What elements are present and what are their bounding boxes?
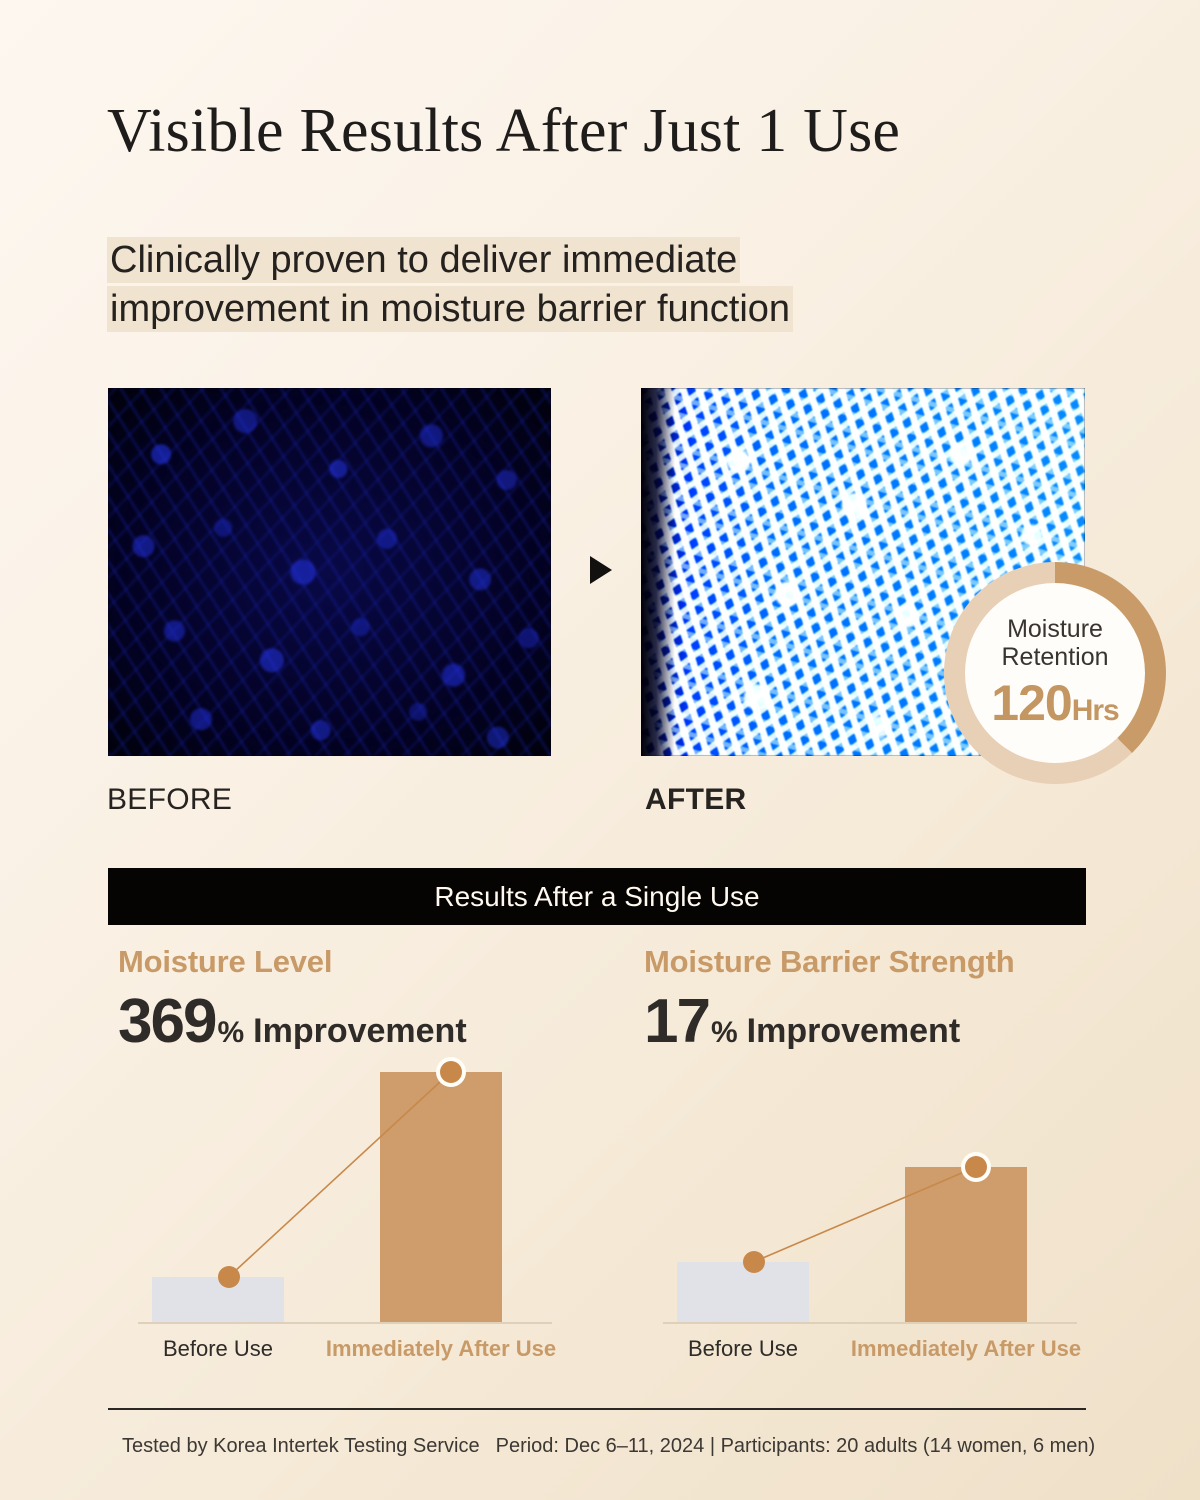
stat-word: Improvement <box>747 1012 961 1051</box>
stat-title: Moisture Level <box>118 944 467 980</box>
subtitle-line-2: improvement in moisture barrier function <box>107 286 793 332</box>
chart-moisture-level: Before Use Immediately After Use <box>130 1080 560 1360</box>
stat-number: 17 <box>644 986 709 1057</box>
trend-connector-line <box>655 1080 1085 1360</box>
footer-note: Tested by Korea Intertek Testing Service… <box>122 1435 1095 1458</box>
stat-barrier-strength: Moisture Barrier Strength 17 % Improveme… <box>644 944 1015 1057</box>
after-label: AFTER <box>645 783 747 817</box>
after-image-edge-shadow <box>641 388 675 756</box>
stat-value-row: 17 % Improvement <box>644 986 1015 1057</box>
results-section-header: Results After a Single Use <box>108 868 1086 925</box>
stat-value-row: 369 % Improvement <box>118 986 467 1057</box>
badge-inner: Moisture Retention 120Hrs <box>965 583 1145 763</box>
footer-divider <box>108 1408 1086 1410</box>
chart-barrier-strength: Before Use Immediately After Use <box>655 1080 1085 1360</box>
page-subtitle: Clinically proven to deliver immediate i… <box>107 236 1067 333</box>
badge-value: 120Hrs <box>991 675 1118 731</box>
before-skin-image <box>108 388 551 756</box>
page-title: Visible Results After Just 1 Use <box>107 96 900 167</box>
moisture-retention-badge: Moisture Retention 120Hrs <box>944 562 1166 784</box>
badge-line-2: Retention <box>1001 643 1108 671</box>
stat-number: 369 <box>118 986 215 1057</box>
trend-connector-line <box>130 1080 560 1360</box>
skin-texture-before <box>108 388 551 756</box>
axis-label-after: Immediately After Use <box>326 1336 556 1362</box>
data-point-after <box>440 1061 462 1083</box>
data-point-before <box>218 1266 240 1288</box>
stat-title: Moisture Barrier Strength <box>644 944 1015 980</box>
footer-period-participants: Period: Dec 6–11, 2024 | Participants: 2… <box>496 1435 1096 1457</box>
stat-percent-sign: % <box>711 1016 738 1050</box>
data-point-before <box>743 1251 765 1273</box>
badge-number: 120 <box>991 675 1071 731</box>
stat-percent-sign: % <box>217 1016 244 1050</box>
axis-label-before: Before Use <box>688 1336 798 1362</box>
data-point-after <box>965 1156 987 1178</box>
axis-label-after: Immediately After Use <box>851 1336 1081 1362</box>
footer-tested-by: Tested by Korea Intertek Testing Service <box>122 1435 480 1457</box>
badge-unit: Hrs <box>1072 694 1119 727</box>
stat-word: Improvement <box>253 1012 467 1051</box>
play-triangle-icon <box>590 556 612 584</box>
badge-line-1: Moisture <box>1007 615 1103 643</box>
before-label: BEFORE <box>107 783 232 817</box>
subtitle-line-1: Clinically proven to deliver immediate <box>107 237 740 283</box>
stat-moisture-level: Moisture Level 369 % Improvement <box>118 944 467 1057</box>
axis-label-before: Before Use <box>163 1336 273 1362</box>
